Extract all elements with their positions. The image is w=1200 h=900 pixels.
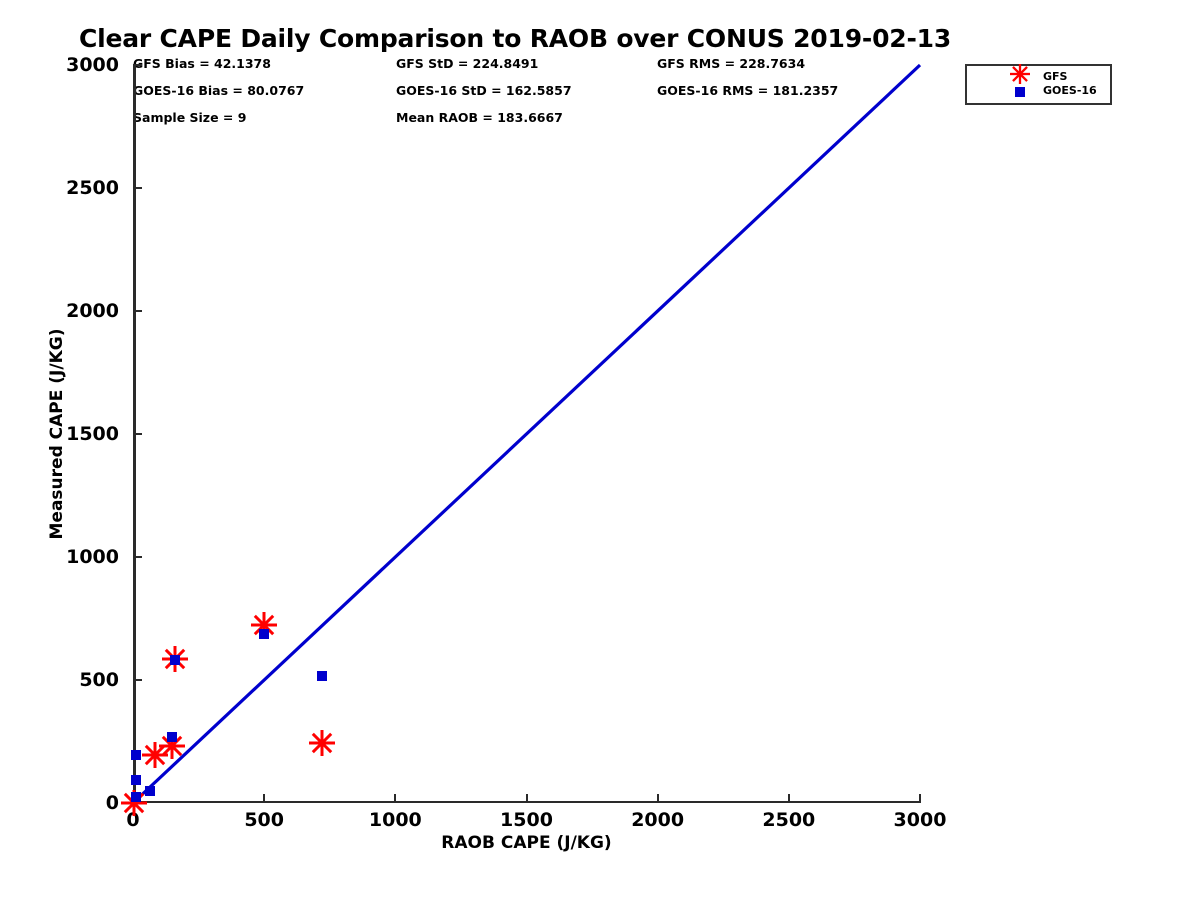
x-tick bbox=[526, 794, 528, 803]
data-point-goes-16 bbox=[317, 671, 327, 681]
x-tick bbox=[394, 794, 396, 803]
legend-label-gfs: GFS bbox=[1043, 70, 1097, 84]
x-tick-label: 1000 bbox=[369, 809, 422, 831]
y-tick bbox=[133, 187, 142, 189]
legend-marker-square-icon bbox=[1015, 87, 1025, 97]
y-tick-label: 1500 bbox=[66, 423, 119, 445]
data-point-goes-16 bbox=[145, 786, 155, 796]
x-tick-label: 3000 bbox=[894, 809, 947, 831]
y-tick-label: 3000 bbox=[66, 54, 119, 76]
legend-markers bbox=[1003, 66, 1037, 103]
data-point-gfs bbox=[159, 733, 185, 759]
x-tick bbox=[788, 794, 790, 803]
x-tick bbox=[919, 794, 921, 803]
chart-figure: Clear CAPE Daily Comparison to RAOB over… bbox=[0, 0, 1200, 900]
y-tick bbox=[133, 556, 142, 558]
x-tick-label: 500 bbox=[244, 809, 284, 831]
x-tick-label: 2000 bbox=[631, 809, 684, 831]
data-point-goes-16 bbox=[259, 629, 269, 639]
y-axis-label: Measured CAPE (J/KG) bbox=[47, 329, 67, 540]
y-tick bbox=[133, 802, 142, 804]
data-point-goes-16 bbox=[170, 655, 180, 665]
y-tick-label: 2000 bbox=[66, 300, 119, 322]
y-tick bbox=[133, 310, 142, 312]
data-point-gfs bbox=[162, 646, 188, 672]
data-point-goes-16 bbox=[167, 732, 177, 742]
plot-area: 050010001500200025003000 050010001500200… bbox=[133, 65, 920, 803]
y-tick-label: 2500 bbox=[66, 177, 119, 199]
one-to-one-reference-line bbox=[133, 65, 920, 803]
x-tick-label: 1500 bbox=[500, 809, 553, 831]
y-tick bbox=[133, 679, 142, 681]
x-tick-label: 0 bbox=[126, 809, 139, 831]
x-tick bbox=[263, 794, 265, 803]
data-point-gfs bbox=[142, 742, 168, 768]
y-tick bbox=[133, 433, 142, 435]
chart-legend: GFS GOES-16 bbox=[965, 64, 1112, 105]
y-tick bbox=[133, 64, 142, 66]
legend-label-goes16: GOES-16 bbox=[1043, 84, 1097, 98]
data-point-gfs bbox=[251, 612, 277, 638]
scatter-points-layer bbox=[133, 65, 920, 803]
x-axis-label: RAOB CAPE (J/KG) bbox=[133, 833, 920, 853]
y-tick-label: 0 bbox=[106, 792, 119, 814]
y-tick-label: 500 bbox=[79, 669, 119, 691]
y-tick-label: 1000 bbox=[66, 546, 119, 568]
data-point-gfs bbox=[309, 730, 335, 756]
legend-labels: GFS GOES-16 bbox=[1043, 70, 1097, 98]
x-tick bbox=[657, 794, 659, 803]
x-tick-label: 2500 bbox=[762, 809, 815, 831]
legend-marker-asterisk-icon bbox=[1010, 64, 1030, 88]
